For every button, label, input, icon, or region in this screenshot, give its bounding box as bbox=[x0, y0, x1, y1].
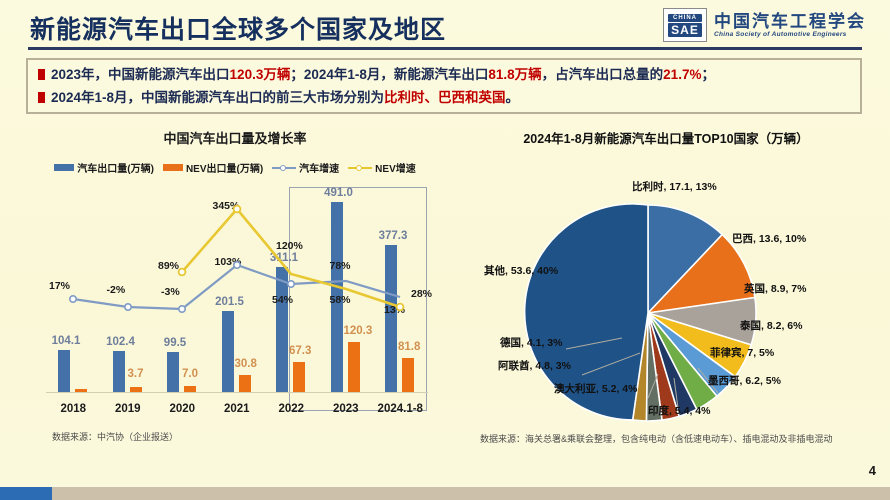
bar-value-label: 3.7 bbox=[128, 368, 158, 380]
pie-plot-area: 比利时, 17.1, 13% 巴西, 13.6, 10% 英国, 8.9, 7%… bbox=[462, 153, 870, 453]
highlight-value: 120.3万辆 bbox=[230, 67, 291, 82]
bar-group-2018: 104.1 17% bbox=[46, 192, 101, 392]
legend-label: 汽车出口量(万辆) bbox=[77, 160, 154, 175]
bullet-marker-icon bbox=[38, 69, 45, 80]
pie-label-germany: 德国, 4.1, 3% bbox=[500, 335, 562, 350]
bar-value-label: 7.0 bbox=[182, 368, 212, 380]
legend-line-marker-icon bbox=[348, 164, 372, 172]
pie-label-others: 其他, 53.6, 40% bbox=[484, 263, 558, 278]
logo-badge-top: CHINA bbox=[668, 14, 702, 22]
bar-value-label: 311.1 bbox=[262, 252, 306, 264]
bar-line-chart: 中国汽车出口量及增长率 汽车出口量(万辆) NEV出口量(万辆) 汽车增速 bbox=[30, 128, 440, 468]
x-tick-2020: 2020 bbox=[155, 403, 210, 415]
bar-value-label: 99.5 bbox=[153, 337, 197, 349]
logo-name-cn: 中国汽车工程学会 bbox=[714, 13, 866, 31]
point-value-label: 17% bbox=[49, 280, 70, 292]
footer-accent bbox=[0, 487, 52, 500]
pie-label-australia: 澳大利亚, 5.2, 4% bbox=[554, 381, 637, 396]
chart-title-right: 2024年1-8月新能源汽车出口量TOP10国家（万辆） bbox=[462, 128, 870, 147]
pie-label-brazil: 巴西, 13.6, 10% bbox=[732, 231, 806, 246]
pie-label-belgium: 比利时, 17.1, 13% bbox=[632, 179, 717, 194]
bar-group-2022: 311.1 67.3 54% 120% bbox=[264, 192, 319, 392]
bar-group-2020: 99.5 7.0 -3% 89% bbox=[155, 192, 210, 392]
pie-label-uae: 阿联酋, 4.8, 3% bbox=[498, 358, 571, 373]
summary-callout-box: 2023年，中国新能源汽车出口120.3万辆；2024年1-8月，新能源汽车出口… bbox=[26, 58, 862, 114]
point-value-label: -2% bbox=[107, 284, 126, 296]
bar-auto-2019 bbox=[113, 351, 125, 392]
logo-name-en: China Society of Automotive Engineers bbox=[714, 31, 866, 38]
logo-badge-bottom: SAE bbox=[668, 23, 702, 37]
x-tick-2018: 2018 bbox=[46, 403, 101, 415]
bar-auto-2024 bbox=[385, 245, 397, 392]
bar-value-label: 102.4 bbox=[99, 336, 143, 348]
bar-nev-2023 bbox=[348, 342, 360, 392]
organization-logo: CHINA SAE 中国汽车工程学会 China Society of Auto… bbox=[663, 8, 866, 42]
legend-item-auto-export: 汽车出口量(万辆) bbox=[54, 160, 154, 175]
pie-chart: 2024年1-8月新能源汽车出口量TOP10国家（万辆） bbox=[462, 128, 870, 468]
pie-label-india: 印度, 5.4, 4% bbox=[648, 403, 710, 418]
point-value-label: -3% bbox=[161, 286, 180, 298]
pie-label-thailand: 泰国, 8.2, 6% bbox=[740, 318, 802, 333]
point-value-label: 13% bbox=[384, 304, 405, 316]
bar-value-label: 104.1 bbox=[44, 335, 88, 347]
bar-value-label: 377.3 bbox=[371, 230, 415, 242]
x-tick-2019: 2019 bbox=[101, 403, 156, 415]
point-value-label: 345% bbox=[213, 200, 240, 212]
pie-label-uk: 英国, 8.9, 7% bbox=[744, 281, 806, 296]
chart-title-text: 2024年1-8月新能源汽车出口量TOP10国家 bbox=[523, 132, 758, 146]
chart-title-unit: （万辆） bbox=[759, 132, 809, 146]
x-tick-2024: 2024.1-8 bbox=[373, 403, 428, 415]
point-value-label: 54% bbox=[272, 294, 293, 306]
bar-value-label: 201.5 bbox=[208, 296, 252, 308]
chart-source-right: 数据来源：海关总署&乘联会整理，包含纯电动（含低速电动车）、插电混动及非插电混动 bbox=[480, 432, 833, 445]
legend-swatch-icon bbox=[54, 164, 74, 171]
highlight-value: 81.8万辆 bbox=[488, 67, 541, 82]
legend-label: NEV增速 bbox=[375, 160, 416, 175]
slide-header: 新能源汽车出口全球多个国家及地区 CHINA SAE 中国汽车工程学会 Chin… bbox=[0, 0, 890, 56]
bar-auto-2020 bbox=[167, 352, 179, 392]
page-number: 4 bbox=[869, 463, 876, 478]
sae-badge-icon: CHINA SAE bbox=[663, 8, 707, 42]
bar-group-2021: 201.5 30.8 103% 345% bbox=[210, 192, 265, 392]
x-tick-2022: 2022 bbox=[264, 403, 319, 415]
bar-series-group: 104.1 17% 102.4 3.7 -2% 99.5 7.0 -3% 89% bbox=[46, 192, 428, 392]
point-value-label: 89% bbox=[158, 260, 179, 272]
bar-value-label: 491.0 bbox=[317, 187, 361, 199]
footer-bar bbox=[0, 487, 890, 500]
legend-item-nev-growth: NEV增速 bbox=[348, 160, 416, 175]
bar-nev-2024 bbox=[402, 358, 414, 392]
point-value-label: 58% bbox=[330, 294, 351, 306]
title-divider bbox=[28, 47, 862, 50]
bar-auto-2021 bbox=[222, 311, 234, 392]
chart-source-left: 数据来源：中汽协（企业报送） bbox=[52, 430, 178, 443]
chart-title-left: 中国汽车出口量及增长率 bbox=[30, 128, 440, 147]
bar-auto-2022 bbox=[276, 267, 288, 392]
bar-nev-2022 bbox=[293, 362, 305, 392]
x-tick-2023: 2023 bbox=[319, 403, 374, 415]
bar-group-2019: 102.4 3.7 -2% bbox=[101, 192, 156, 392]
bullet-marker-icon bbox=[38, 92, 45, 103]
point-value-label: 120% bbox=[276, 240, 303, 252]
x-tick-2021: 2021 bbox=[210, 403, 265, 415]
x-axis-line bbox=[46, 392, 428, 393]
bullet-text: 2023年，中国新能源汽车出口120.3万辆；2024年1-8月，新能源汽车出口… bbox=[51, 65, 715, 85]
bullet-item: 2024年1-8月，中国新能源汽车出口的前三大市场分别为比利时、巴西和英国。 bbox=[36, 88, 852, 108]
bullet-item: 2023年，中国新能源汽车出口120.3万辆；2024年1-8月，新能源汽车出口… bbox=[36, 65, 852, 85]
pie-label-philippines: 菲律宾, 7, 5% bbox=[710, 345, 774, 360]
chart-plot-area-left: 104.1 17% 102.4 3.7 -2% 99.5 7.0 -3% 89% bbox=[34, 179, 434, 419]
legend-line-marker-icon bbox=[272, 164, 296, 172]
highlight-value: 21.7% bbox=[663, 67, 701, 82]
bar-group-2024: 377.3 81.8 13% 28% bbox=[373, 192, 428, 392]
bar-auto-2018 bbox=[58, 350, 70, 392]
point-value-label: 78% bbox=[330, 260, 351, 272]
point-value-label: 28% bbox=[411, 288, 432, 300]
bar-value-label: 81.8 bbox=[398, 341, 432, 353]
legend-item-nev-export: NEV出口量(万辆) bbox=[163, 160, 263, 175]
legend-item-auto-growth: 汽车增速 bbox=[272, 160, 339, 175]
chart-legend-left: 汽车出口量(万辆) NEV出口量(万辆) 汽车增速 NEV增速 bbox=[30, 160, 440, 175]
point-value-label: 103% bbox=[215, 256, 242, 268]
x-axis-labels: 2018 2019 2020 2021 2022 2023 2024.1-8 bbox=[46, 395, 428, 415]
legend-label: 汽车增速 bbox=[299, 160, 339, 175]
pie-label-mexico: 墨西哥, 6.2, 5% bbox=[708, 373, 781, 388]
slide: 新能源汽车出口全球多个国家及地区 CHINA SAE 中国汽车工程学会 Chin… bbox=[0, 0, 890, 500]
bar-group-2023: 491.0 120.3 58% 78% bbox=[319, 192, 374, 392]
legend-label: NEV出口量(万辆) bbox=[186, 160, 263, 175]
page-title: 新能源汽车出口全球多个国家及地区 bbox=[30, 10, 446, 46]
bar-nev-2021 bbox=[239, 375, 251, 392]
bullet-text: 2024年1-8月，中国新能源汽车出口的前三大市场分别为比利时、巴西和英国。 bbox=[51, 88, 519, 108]
legend-swatch-icon bbox=[163, 164, 183, 171]
highlight-value: 比利时、巴西和英国 bbox=[384, 90, 506, 105]
